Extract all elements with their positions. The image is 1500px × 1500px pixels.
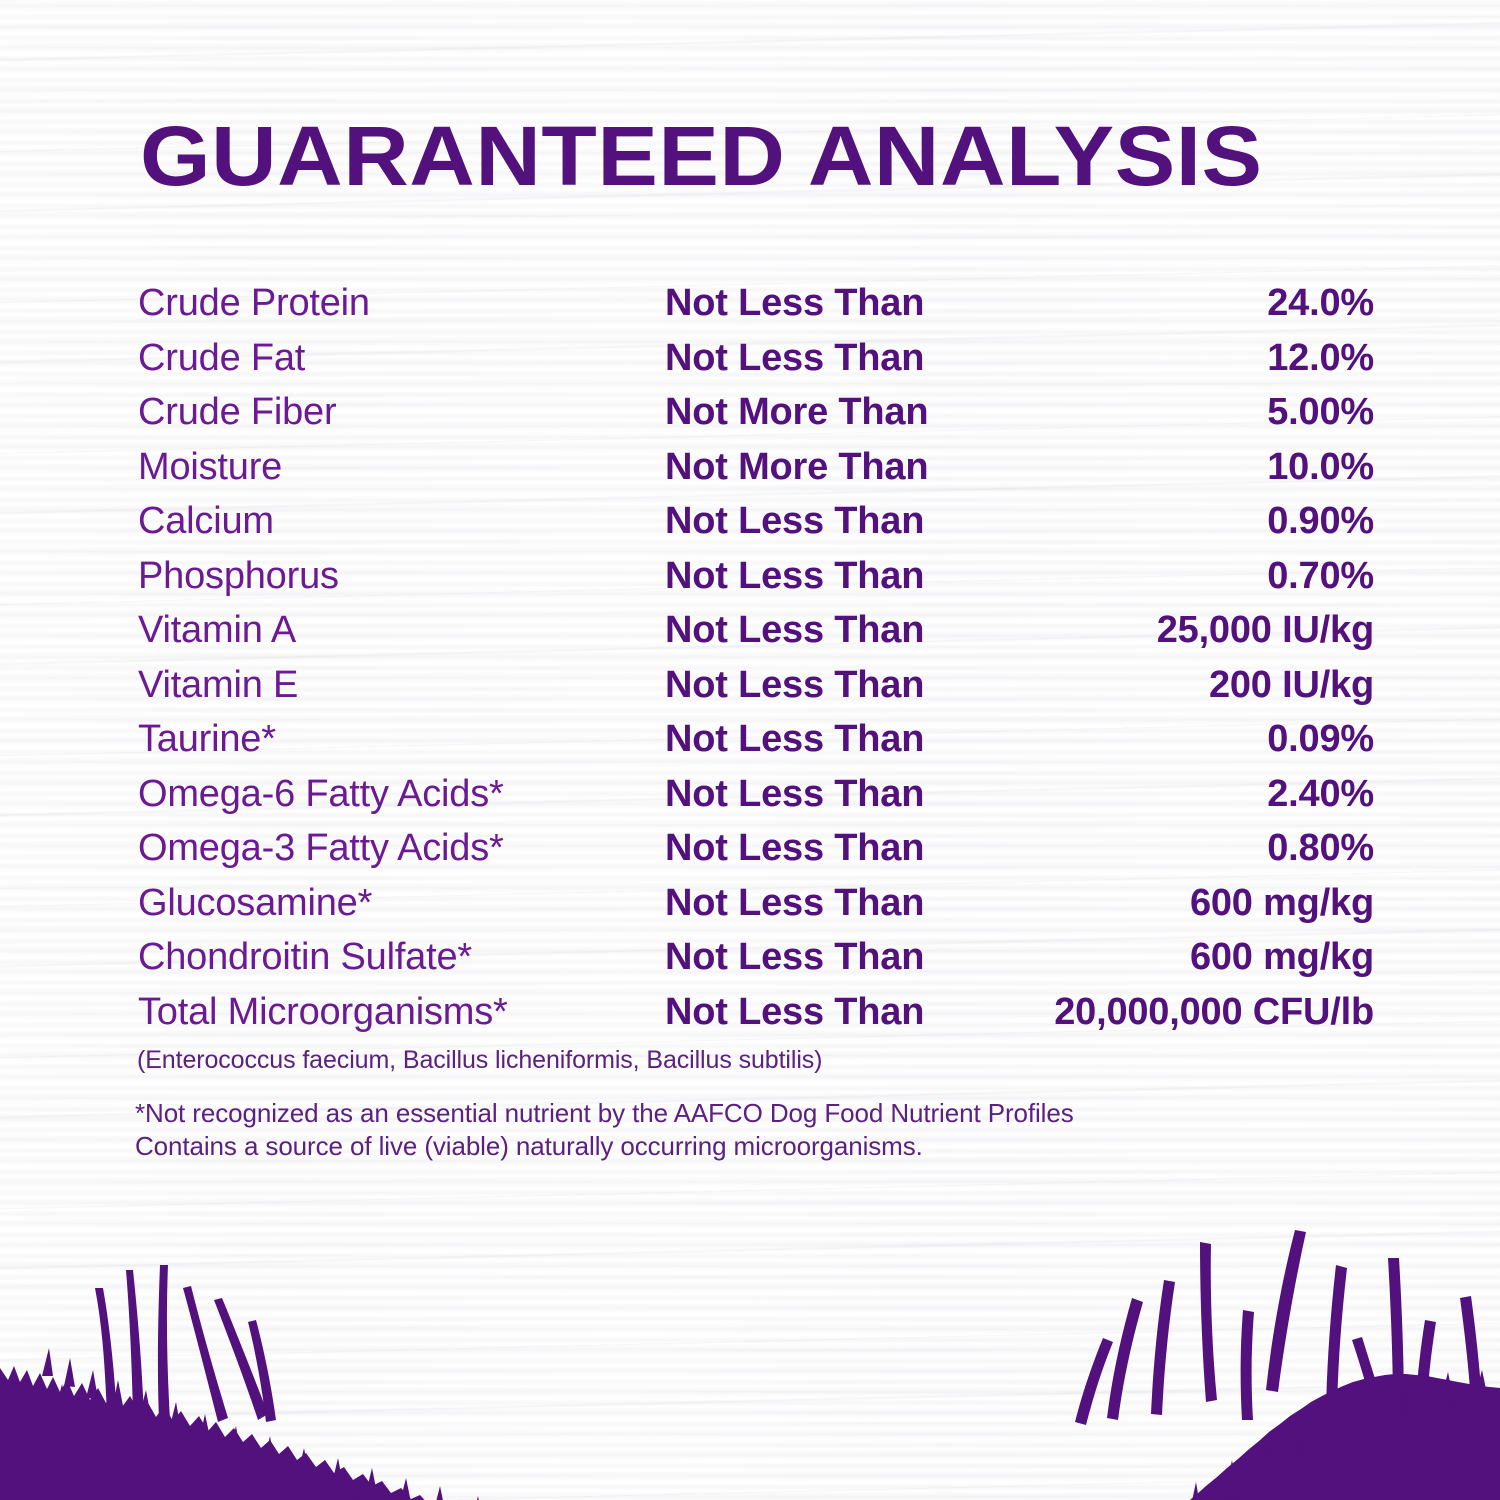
nutrient-value: 0.70% [995,555,1374,598]
nutrient-qualifier: Not More Than [665,446,995,489]
nutrient-name: Omega-3 Fatty Acids* [138,827,665,870]
table-row: Total Microorganisms* Not Less Than 20,0… [138,991,1374,1046]
nutrient-qualifier: Not Less Than [665,337,995,380]
table-row: Omega-6 Fatty Acids* Not Less Than 2.40% [138,773,1374,828]
guaranteed-analysis-table: Crude Protein Not Less Than 24.0% Crude … [138,282,1374,1045]
nutrient-value: 200 IU/kg [995,664,1374,707]
nutrient-name: Total Microorganisms* [138,991,665,1034]
nutrient-qualifier: Not Less Than [665,282,995,325]
nutrient-name: Moisture [138,446,665,489]
probiotic-strains-note: (Enterococcus faecium, Bacillus lichenif… [137,1046,822,1075]
table-row: Phosphorus Not Less Than 0.70% [138,555,1374,610]
nutrient-name: Taurine* [138,718,665,761]
nutrient-qualifier: Not Less Than [665,555,995,598]
table-row: Crude Protein Not Less Than 24.0% [138,282,1374,337]
nutrient-name: Glucosamine* [138,882,665,925]
nutrient-value: 20,000,000 CFU/lb [995,991,1374,1034]
nutrient-name: Omega-6 Fatty Acids* [138,773,665,816]
table-row: Glucosamine* Not Less Than 600 mg/kg [138,882,1374,937]
table-row: Vitamin A Not Less Than 25,000 IU/kg [138,609,1374,664]
nutrient-name: Phosphorus [138,555,665,598]
aafco-footnote: *Not recognized as an essential nutrient… [135,1097,1074,1130]
nutrient-value: 12.0% [995,337,1374,380]
page-title: GUARANTEED ANALYSIS [140,110,1263,202]
nutrient-value: 24.0% [995,282,1374,325]
nutrient-value: 600 mg/kg [995,936,1374,979]
nutrient-value: 0.90% [995,500,1374,543]
nutrient-qualifier: Not Less Than [665,882,995,925]
nutrient-qualifier: Not Less Than [665,827,995,870]
microorganisms-footnote: Contains a source of live (viable) natur… [135,1130,1074,1163]
table-row: Calcium Not Less Than 0.90% [138,500,1374,555]
nutrient-qualifier: Not Less Than [665,718,995,761]
nutrient-qualifier: Not Less Than [665,664,995,707]
grass-silhouette [0,1170,1500,1500]
nutrient-value: 600 mg/kg [995,882,1374,925]
nutrient-qualifier: Not Less Than [665,609,995,652]
table-row: Chondroitin Sulfate* Not Less Than 600 m… [138,936,1374,991]
nutrient-qualifier: Not Less Than [665,991,995,1034]
nutrient-value: 2.40% [995,773,1374,816]
nutrient-value: 5.00% [995,391,1374,434]
nutrient-qualifier: Not More Than [665,391,995,434]
nutrient-qualifier: Not Less Than [665,500,995,543]
footnotes-block: *Not recognized as an essential nutrient… [135,1097,1074,1163]
table-row: Taurine* Not Less Than 0.09% [138,718,1374,773]
nutrient-name: Vitamin A [138,609,665,652]
nutrient-name: Vitamin E [138,664,665,707]
nutrient-name: Chondroitin Sulfate* [138,936,665,979]
table-row: Crude Fat Not Less Than 12.0% [138,337,1374,392]
table-row: Vitamin E Not Less Than 200 IU/kg [138,664,1374,719]
table-row: Crude Fiber Not More Than 5.00% [138,391,1374,446]
nutrient-name: Crude Fat [138,337,665,380]
nutrient-name: Calcium [138,500,665,543]
table-row: Moisture Not More Than 10.0% [138,446,1374,501]
table-row: Omega-3 Fatty Acids* Not Less Than 0.80% [138,827,1374,882]
nutrient-value: 25,000 IU/kg [995,609,1374,652]
nutrient-name: Crude Protein [138,282,665,325]
nutrient-qualifier: Not Less Than [665,773,995,816]
nutrient-qualifier: Not Less Than [665,936,995,979]
nutrient-value: 0.09% [995,718,1374,761]
nutrient-value: 0.80% [995,827,1374,870]
nutrient-name: Crude Fiber [138,391,665,434]
guaranteed-analysis-panel: GUARANTEED ANALYSIS Crude Protein Not Le… [0,0,1500,1500]
nutrient-value: 10.0% [995,446,1374,489]
